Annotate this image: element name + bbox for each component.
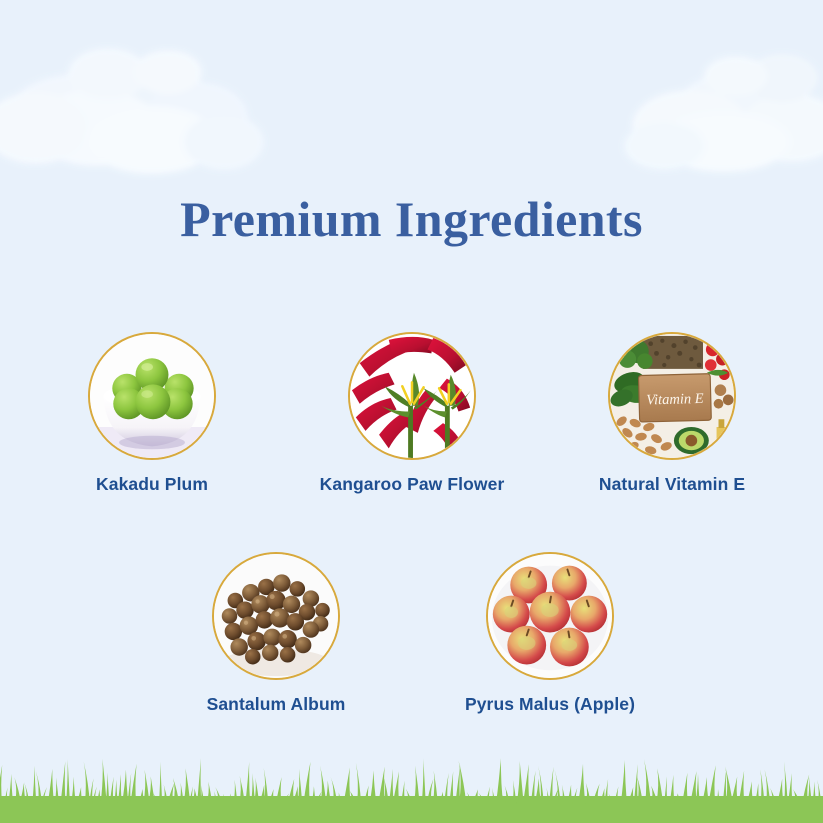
ingredients-poster: Premium Ingredients [0,0,823,823]
ingredient-natural-vitamin-e[interactable]: Vitamin E Natural Vitamin E [577,332,767,495]
ingredient-image-wrapper [212,552,340,680]
ingredient-pyrus-malus-apple[interactable]: Pyrus Malus (Apple) [455,552,645,715]
natural-vitamin-e-image: Vitamin E [608,332,736,460]
ingredient-image-wrapper [348,332,476,460]
cloud-cluster-left [0,48,264,174]
ingredient-kangaroo-paw-flower[interactable]: Kangaroo Paw Flower [317,332,507,495]
ingredient-label: Kangaroo Paw Flower [317,474,507,495]
ingredient-image-wrapper: Vitamin E [608,332,736,460]
ingredient-label: Natural Vitamin E [577,474,767,495]
cloud-cluster-right [624,54,823,172]
ingredient-image-wrapper [88,332,216,460]
ingredient-santalum-album[interactable]: Santalum Album [181,552,371,715]
santalum-album-image [212,552,340,680]
ingredient-label: Santalum Album [181,694,371,715]
ingredient-label: Pyrus Malus (Apple) [455,694,645,715]
ingredient-label: Kakadu Plum [57,474,247,495]
kakadu-plum-image [88,332,216,460]
ingredient-image-wrapper [486,552,614,680]
pyrus-malus-apple-image [486,552,614,680]
kangaroo-paw-flower-image [348,332,476,460]
page-title: Premium Ingredients [0,190,823,248]
vitamin-e-board-text: Vitamin E [646,391,704,409]
ingredient-kakadu-plum[interactable]: Kakadu Plum [57,332,247,495]
cloud-decoration-layer [0,0,823,200]
grass-border [0,748,823,823]
